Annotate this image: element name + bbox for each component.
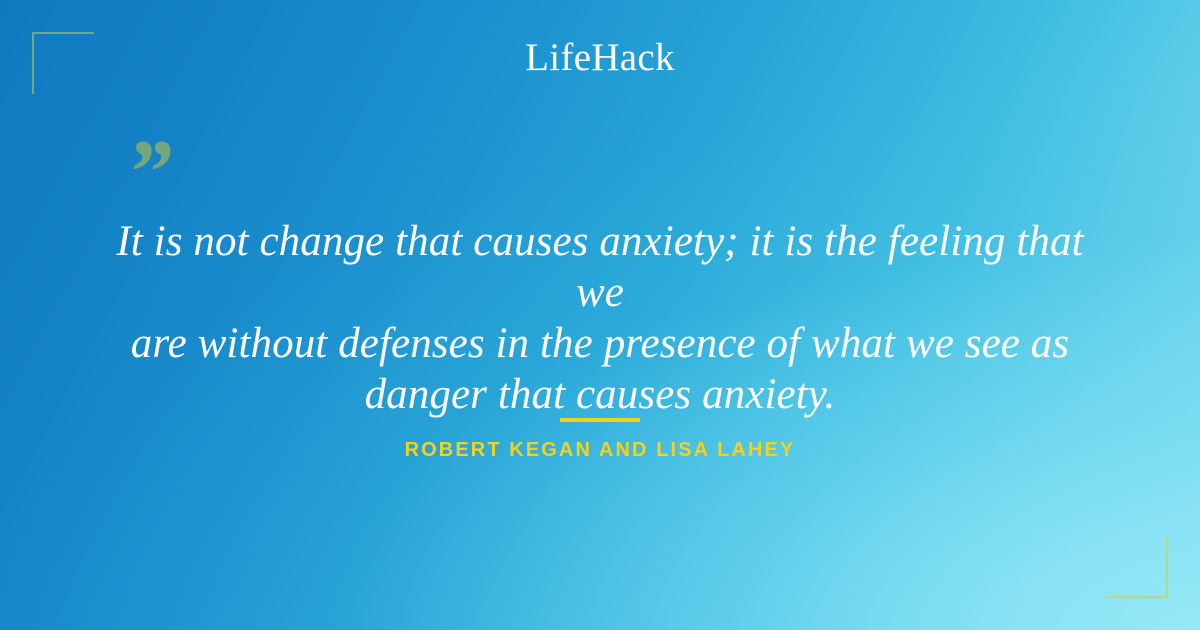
quote-line: It is not change that causes anxiety; it…: [95, 216, 1105, 318]
divider-container: [0, 409, 1200, 427]
attribution-author: ROBERT KEGAN AND LISA LAHEY: [405, 438, 796, 462]
quote-line: are without defenses in the presence of …: [95, 318, 1105, 369]
quote-block: It is not change that causes anxiety; it…: [95, 216, 1105, 420]
divider-rule: [560, 418, 640, 422]
quote-card: LifeHack ” It is not change that causes …: [0, 0, 1200, 630]
brand-logo: LifeHack: [525, 38, 675, 77]
quote-text: It is not change that causes anxiety; it…: [95, 216, 1105, 420]
corner-bracket-bottom-right-icon: [1106, 536, 1168, 598]
attribution-container: ROBERT KEGAN AND LISA LAHEY: [0, 438, 1200, 462]
brand-header: LifeHack: [0, 38, 1200, 77]
quote-mark-icon: ”: [126, 126, 172, 218]
